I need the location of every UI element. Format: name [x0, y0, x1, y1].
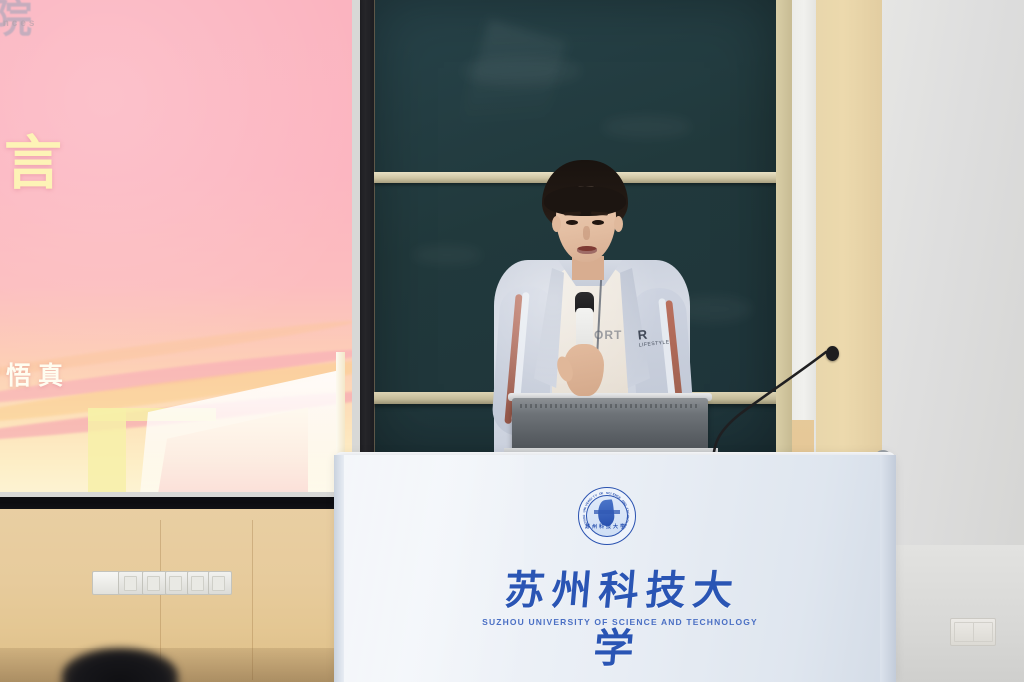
- nose: [583, 226, 590, 240]
- jacket-brand-logo: R LIFESTYLE: [637, 324, 670, 348]
- wall-outlet-socket[interactable]: [954, 622, 974, 642]
- ear-right: [614, 216, 623, 232]
- gooseneck-microphone: [706, 344, 846, 464]
- light-switch[interactable]: [212, 576, 225, 591]
- wall-outlet-socket[interactable]: [973, 622, 993, 642]
- podium-right-edge: [880, 455, 896, 682]
- wall-switch-plate[interactable]: [92, 571, 120, 595]
- laptop-hinge-vents: [520, 404, 700, 408]
- podium-left-edge: [334, 455, 344, 682]
- light-switch[interactable]: [124, 576, 137, 591]
- ear-left: [552, 216, 561, 232]
- slide-title-cn: 发言: [0, 116, 74, 200]
- lecture-hall-photo: 学院 al Sciences 发言 梦悟真 SPORT R LIFESTYLE: [0, 0, 1024, 682]
- gooseneck-microphone-head: [826, 346, 839, 361]
- projection-screen: 学院 al Sciences 发言 梦悟真: [0, 0, 352, 492]
- eye-right: [592, 220, 604, 225]
- light-switch[interactable]: [191, 576, 204, 591]
- podium-university-name-cn: 苏州科技大学: [495, 558, 745, 674]
- slide-subtitle-cn: 梦悟真: [0, 356, 70, 392]
- emblem-chinese-name: 苏州科技大学: [578, 523, 634, 530]
- eye-left: [566, 220, 578, 225]
- jacket-brand-text: R: [637, 327, 649, 343]
- slide-header-en: al Sciences: [0, 18, 37, 29]
- light-switch[interactable]: [169, 576, 182, 591]
- mouth: [577, 246, 597, 254]
- hair-fringe: [544, 186, 626, 216]
- emblem-ring-text: SUZHOU UNIVERSITY OF SCIENCE AND TECHNOL…: [578, 487, 634, 543]
- podium-university-name-en: SUZHOU UNIVERSITY OF SCIENCE AND TECHNOL…: [480, 617, 760, 627]
- light-switch[interactable]: [147, 576, 160, 591]
- white-wall-right-lower: [878, 545, 1024, 682]
